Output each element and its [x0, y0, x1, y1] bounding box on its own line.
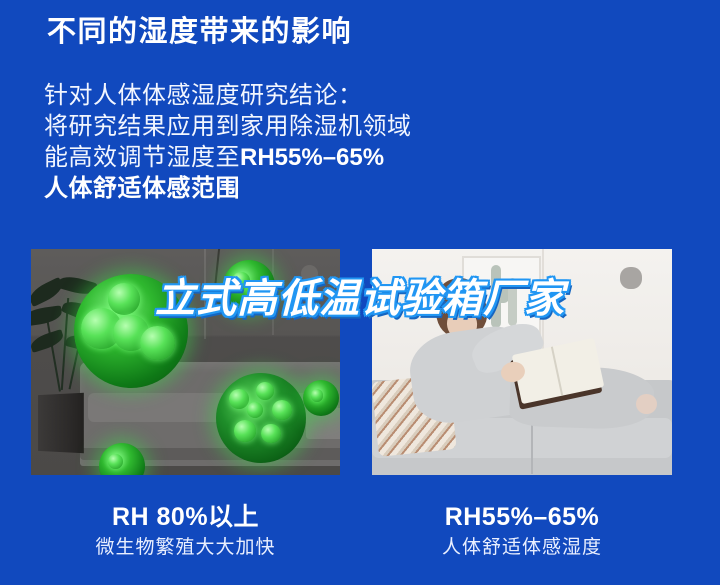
person-foot [636, 394, 657, 414]
caption-subtitle: 人体舒适体感湿度 [372, 534, 672, 562]
caption-comfort-humidity: RH55%–65% 人体舒适体感湿度 [372, 500, 672, 562]
caption-title: RH55%–65% [372, 500, 672, 534]
body-line-2: 将研究结果应用到家用除湿机领域 [44, 111, 412, 142]
caption-high-humidity: RH 80%以上 微生物繁殖大大加快 [31, 500, 340, 562]
body-line-3-value: RH55%–65% [240, 144, 384, 171]
page-title: 不同的湿度带来的影响 [47, 14, 352, 50]
microbe-sphere [303, 380, 339, 416]
body-line-1: 针对人体体感湿度研究结论： [44, 80, 412, 111]
caption-title: RH 80%以上 [31, 500, 340, 534]
caption-subtitle: 微生物繁殖大大加快 [31, 534, 340, 562]
plant-pot [38, 392, 84, 452]
caption-row: RH 80%以上 微生物繁殖大大加快 RH55%–65% 人体舒适体感湿度 [0, 500, 720, 585]
body-line-4: 人体舒适体感范围 [44, 173, 412, 204]
watermark-text: 立式高低温试验箱厂家 [0, 266, 720, 324]
body-line-3-prefix: 能高效调节湿度至 [44, 144, 240, 171]
humidity-infographic-poster: 不同的湿度带来的影响 针对人体体感湿度研究结论： 将研究结果应用到家用除湿机领域… [0, 0, 720, 585]
body-copy: 针对人体体感湿度研究结论： 将研究结果应用到家用除湿机领域 能高效调节湿度至RH… [44, 80, 412, 204]
body-line-3: 能高效调节湿度至RH55%–65% [44, 142, 412, 173]
